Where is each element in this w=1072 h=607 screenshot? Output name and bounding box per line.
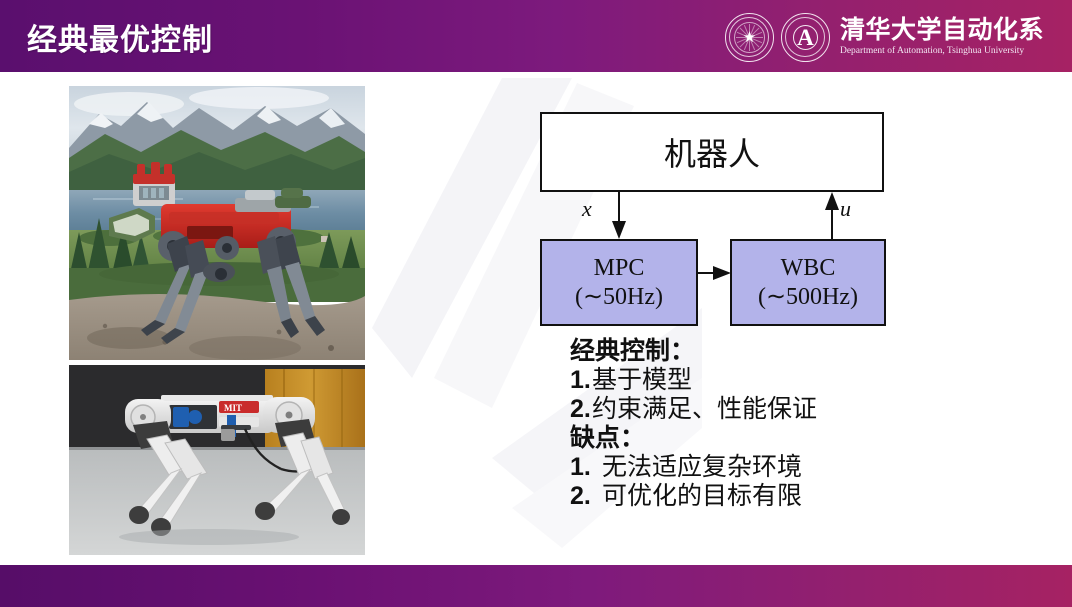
slide-footer-bar	[0, 565, 1072, 607]
logo-wordmark-english: Department of Automation, Tsinghua Unive…	[840, 46, 1044, 56]
page-title: 经典最优控制	[27, 15, 213, 59]
diagram-block-mpc: MPC (∼50Hz)	[540, 239, 698, 326]
bullet-item-s1-2: 2.约束满足、性能保证	[570, 395, 970, 424]
bullet-section-title-classic-control: 经典控制：	[570, 337, 970, 366]
bullet-item-s2-2: 2.可优化的目标有限	[570, 482, 970, 511]
tsinghua-university-seal-icon: ★	[725, 13, 774, 62]
diagram-block-mpc-label: MPC	[594, 254, 645, 282]
bullet-number: 1.	[570, 453, 602, 482]
bullet-text: 无法适应复杂环境	[602, 453, 802, 481]
slide-canvas: 经典最优控制 ★	[0, 0, 1072, 607]
control-architecture-diagram: 机器人 MPC (∼50Hz) WBC (∼500Hz) x u	[540, 112, 886, 326]
diagram-block-wbc-label: WBC	[781, 254, 836, 282]
bullet-section-title-drawbacks: 缺点：	[570, 424, 970, 453]
bullet-number: 1.	[570, 366, 592, 395]
star-glyph-icon: ★	[743, 30, 756, 45]
bullet-text: 可优化的目标有限	[602, 482, 802, 510]
seal-letter-a: A	[797, 26, 814, 49]
diagram-block-mpc-rate: (∼50Hz)	[575, 283, 663, 311]
slide-header-bar: 经典最优控制 ★	[0, 0, 1072, 72]
diagram-block-robot: 机器人	[540, 112, 884, 192]
logo-wordmark: 清华大学自动化系 Department of Automation, Tsing…	[840, 18, 1044, 57]
institution-logo-cluster: ★ A 清华大学自动化系 Department of Automation, T…	[725, 10, 1044, 64]
bullet-text: 基于模型	[592, 366, 692, 394]
mini-cheetah-quadruped-indoor-photo: MIT	[69, 365, 365, 555]
bullet-number: 2.	[570, 482, 602, 511]
bullet-item-s1-1: 1.基于模型	[570, 366, 970, 395]
svg-text:MIT: MIT	[224, 403, 242, 413]
diagram-block-robot-label: 机器人	[664, 129, 760, 175]
bullet-text: 约束满足、性能保证	[592, 395, 817, 423]
bullet-item-s2-1: 1.无法适应复杂环境	[570, 453, 970, 482]
diagram-block-wbc-rate: (∼500Hz)	[758, 283, 858, 311]
bullet-number: 2.	[570, 395, 592, 424]
logo-wordmark-chinese: 清华大学自动化系	[840, 18, 1044, 44]
diagram-edge-label-u: u	[840, 196, 851, 222]
diagram-edge-label-x: x	[582, 196, 592, 222]
diagram-block-wbc: WBC (∼500Hz)	[730, 239, 886, 326]
anymal-quadruped-outdoor-photo	[69, 86, 365, 360]
bullet-text-block: 经典控制： 1.基于模型 2.约束满足、性能保证 缺点： 1.无法适应复杂环境 …	[570, 337, 970, 511]
automation-department-seal-icon: A	[781, 13, 830, 62]
